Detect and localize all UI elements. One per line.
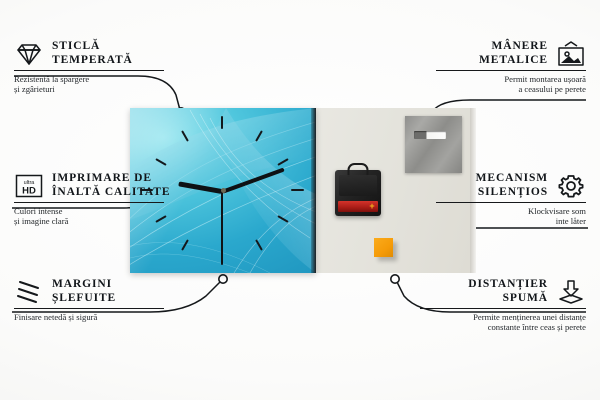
svg-text:HD: HD: [22, 185, 36, 196]
picture-hanger-icon: [556, 41, 586, 67]
infographic-canvas: +: [0, 0, 600, 400]
callout-title: MECANISM SILENȚIOS: [476, 172, 548, 199]
callout-foam-spacer: DISTANȚIER SPUMĂ Permite menținerea unei…: [420, 278, 586, 333]
callout-title: MÂNERE METALICE: [479, 40, 548, 67]
gear-icon: [556, 173, 586, 199]
callout-divider: [14, 202, 164, 203]
callout-divider: [436, 202, 586, 203]
callout-title: IMPRIMARE DE ÎNALTĂ CALITATE: [52, 172, 170, 199]
callout-title: MARGINI ȘLEFUITE: [52, 278, 116, 305]
callout-metal-hangers: MÂNERE METALICE Permit montarea ușoară a…: [436, 40, 586, 95]
clock-second-hand: [221, 192, 223, 264]
callout-divider: [14, 70, 164, 71]
callout-tempered-glass: STICLĂ TEMPERATĂ Rezistentă la spargere …: [14, 40, 164, 95]
product-photo: +: [130, 108, 470, 273]
clock-movement: +: [335, 170, 381, 216]
callout-polished-edges: MARGINI ȘLEFUITE Finisare netedă și sigu…: [14, 278, 164, 322]
metal-hanger-plate: [405, 116, 462, 173]
callout-divider: [420, 308, 586, 309]
callout-print-quality: ultra HD IMPRIMARE DE ÎNALTĂ CALITATE Cu…: [14, 172, 164, 227]
polished-edges-icon: [14, 279, 44, 305]
callout-divider: [14, 308, 164, 309]
battery: +: [338, 201, 378, 212]
clock-tick: [291, 189, 304, 191]
hanger-keyhole-slot: [414, 131, 446, 139]
foam-spacer-pad: [374, 238, 393, 257]
clock-tick: [221, 116, 223, 129]
callout-title: DISTANȚIER SPUMĂ: [468, 278, 548, 305]
battery-plus-marker: +: [368, 202, 376, 210]
callout-title: STICLĂ TEMPERATĂ: [52, 40, 133, 67]
leader-dot-polished-edges: [219, 275, 227, 283]
leader-dot-foam-spacer: [391, 275, 399, 283]
foam-spacer-icon: [556, 279, 586, 305]
callout-silent-mechanism: MECANISM SILENȚIOS Klockvisare som inte …: [436, 172, 586, 227]
movement-body: [339, 175, 377, 196]
callout-divider: [436, 70, 586, 71]
diamond-icon: [14, 41, 44, 67]
ultra-hd-icon: ultra HD: [14, 173, 44, 199]
clock-center-pin: [221, 188, 226, 193]
